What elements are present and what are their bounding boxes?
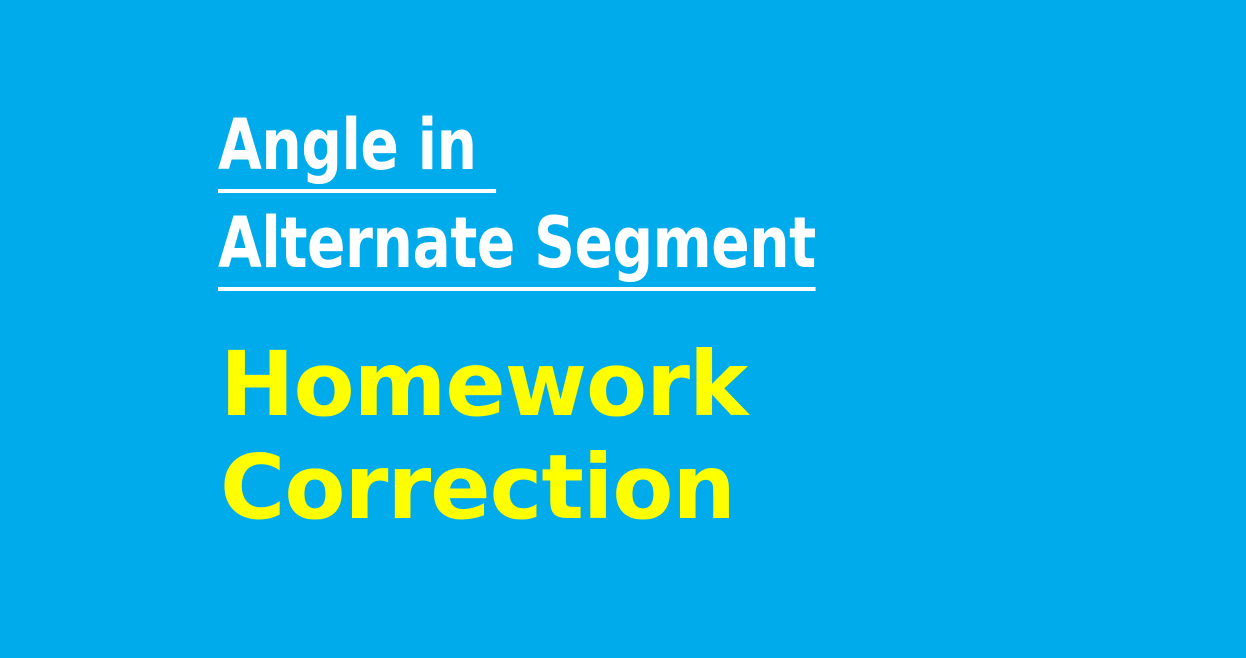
- title-line-2-text: Alternate Segment: [218, 202, 816, 291]
- title-block: Angle in Alternate Segment: [218, 96, 1198, 292]
- title-line-1: Angle in: [218, 96, 1100, 194]
- subtitle-line-2: Correction: [220, 436, 1200, 539]
- title-line-2: Alternate Segment: [218, 194, 1100, 292]
- title-line-1-text: Angle in: [218, 104, 496, 193]
- slide-canvas: Angle in Alternate Segment Homework Corr…: [0, 0, 1246, 658]
- subtitle-block: Homework Correction: [220, 333, 1200, 539]
- subtitle-line-1: Homework: [220, 333, 1200, 436]
